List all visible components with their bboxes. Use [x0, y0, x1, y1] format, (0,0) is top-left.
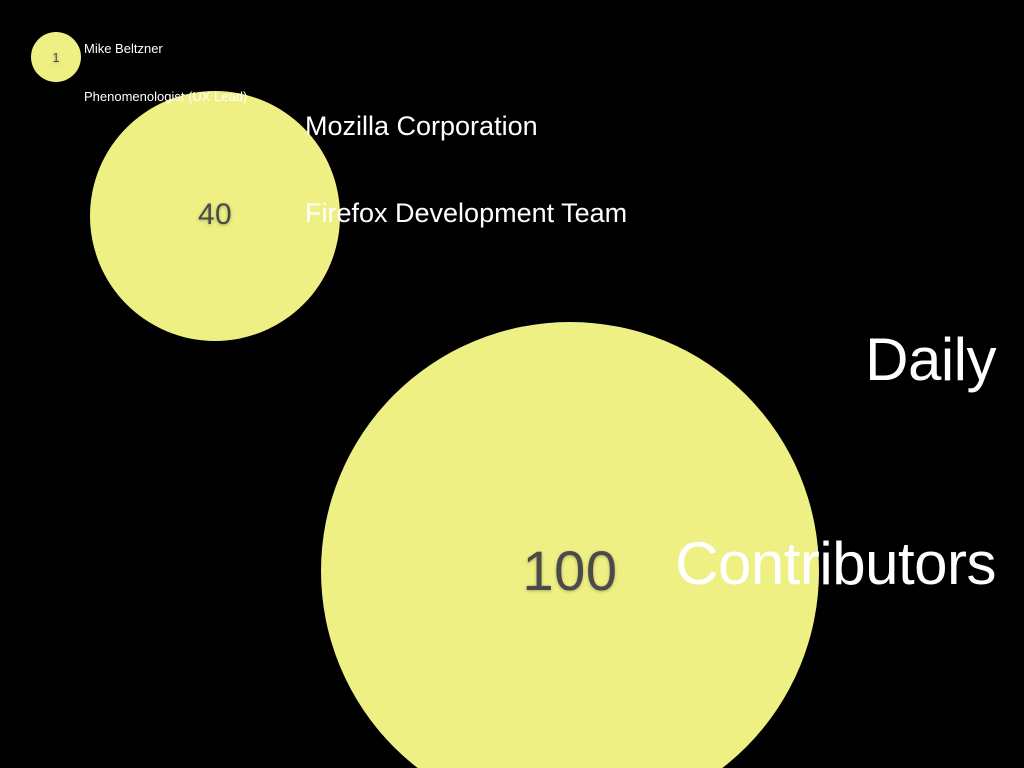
slide-title-line-2: Contributors [296, 530, 996, 598]
slide-title-line-1: Daily [296, 326, 996, 394]
slide-title: Daily Contributors [296, 190, 996, 734]
presentation-slide: 1 40 100 Mike Beltzner Phenomenologist (… [0, 0, 1024, 768]
presenter-name: Mike Beltzner [84, 41, 247, 57]
bubble-label-40: 40 [198, 200, 232, 230]
bubble-contributors-1[interactable]: 1 [31, 32, 81, 82]
presenter-byline: Mike Beltzner Phenomenologist (UX Lead) [84, 9, 247, 137]
presenter-role: Phenomenologist (UX Lead) [84, 89, 247, 105]
organization-line-1: Mozilla Corporation [305, 112, 627, 141]
bubble-label-1: 1 [52, 51, 59, 64]
